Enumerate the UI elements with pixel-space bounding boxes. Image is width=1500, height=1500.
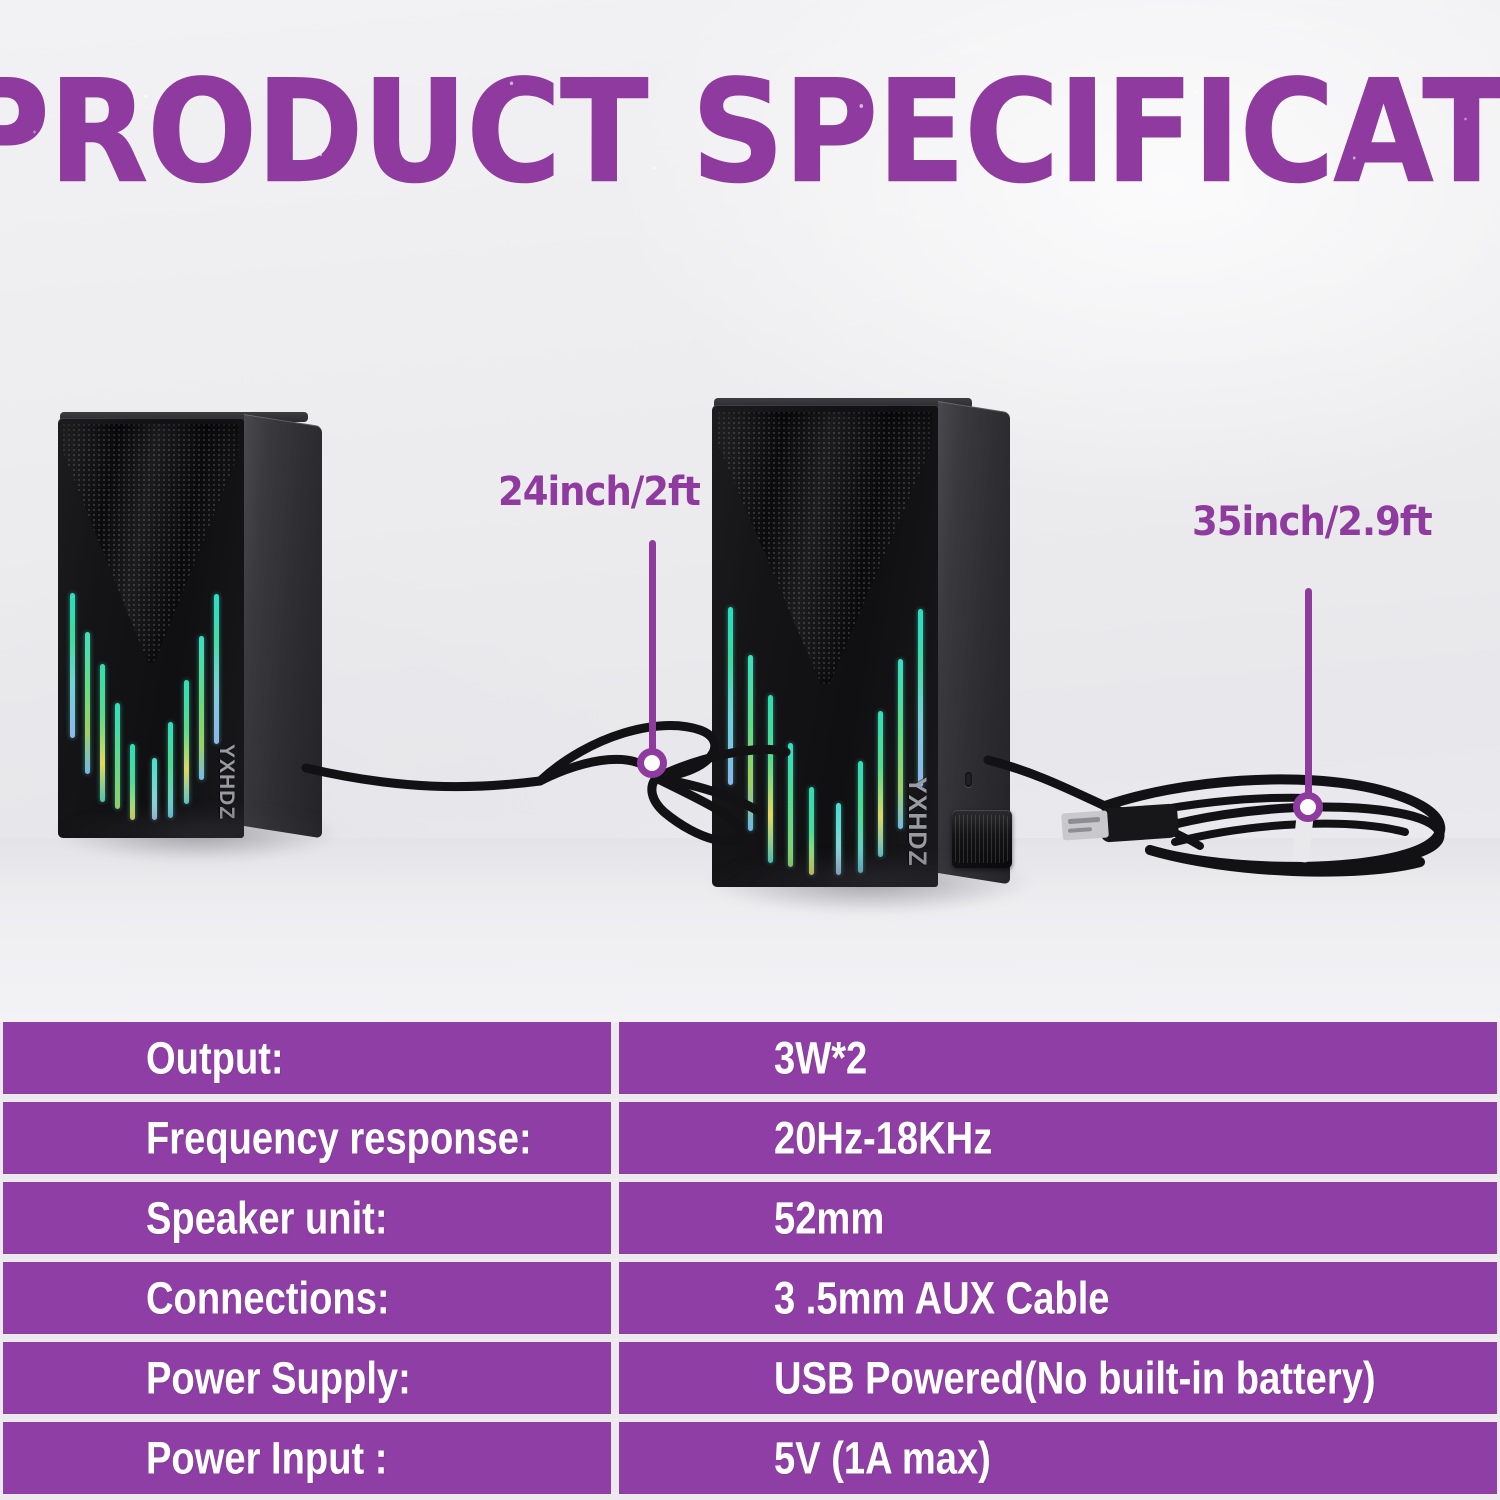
table-row: Power Supply: USB Powered(No built-in ba…: [0, 1342, 1500, 1414]
spec-label: Output:: [146, 1032, 284, 1084]
rgb-light-bar: [214, 594, 219, 744]
rgb-light-bar: [768, 695, 773, 863]
table-row: Output: 3W*2: [0, 1022, 1500, 1094]
spec-value-cell: 3 .5mm AUX Cable: [619, 1262, 1497, 1334]
rgb-light-bar: [115, 703, 120, 809]
aux-port: [965, 772, 972, 787]
callout-aux-cable: 24inch/2ft: [498, 470, 758, 800]
callout-usb-cable: 35inch/2.9ft: [1192, 500, 1492, 850]
rgb-light-bar: [199, 636, 204, 780]
callout-usb-cable-leader: [1305, 588, 1312, 806]
table-row: Frequency response: 20Hz-18KHz: [0, 1102, 1500, 1174]
table-row: Speaker unit: 52mm: [0, 1182, 1500, 1254]
spec-value-cell: 20Hz-18KHz: [619, 1102, 1497, 1174]
spec-value: 3W*2: [774, 1032, 867, 1084]
callout-usb-cable-marker: [1293, 792, 1323, 822]
left-speaker-shadow: [52, 804, 342, 862]
spec-label-cell: Speaker unit:: [3, 1182, 611, 1254]
spec-label: Connections:: [146, 1272, 390, 1324]
spec-label: Power Input :: [146, 1432, 387, 1484]
spec-label: Speaker unit:: [146, 1192, 388, 1244]
spec-value-cell: 5V (1A max): [619, 1422, 1497, 1494]
spec-label-cell: Frequency response:: [3, 1102, 611, 1174]
spec-label-cell: Connections:: [3, 1262, 611, 1334]
page-title: PRODUCT SPECIFICATIONS: [0, 51, 1500, 213]
spec-label-cell: Output:: [3, 1022, 611, 1094]
specifications-table: Output: 3W*2 Frequency response: 20Hz-18…: [0, 1022, 1500, 1500]
spec-value: USB Powered(No built-in battery): [774, 1352, 1376, 1404]
spec-value-cell: 3W*2: [619, 1022, 1497, 1094]
rgb-light-bar: [918, 609, 923, 787]
rgb-light-bar: [184, 680, 189, 804]
rgb-light-bar: [100, 664, 105, 802]
callout-aux-cable-label: 24inch/2ft: [498, 468, 700, 514]
table-row: Power Input : 5V (1A max): [0, 1422, 1500, 1494]
spec-value: 5V (1A max): [774, 1432, 991, 1484]
spec-label-cell: Power Supply:: [3, 1342, 611, 1414]
spec-label: Power Supply:: [146, 1352, 411, 1404]
callout-aux-cable-leader: [649, 540, 656, 762]
spec-value: 52mm: [774, 1192, 884, 1244]
left-speaker-grille: [63, 424, 239, 662]
spec-value-cell: 52mm: [619, 1182, 1497, 1254]
table-row: Connections: 3 .5mm AUX Cable: [0, 1262, 1500, 1334]
spec-value: 3 .5mm AUX Cable: [774, 1272, 1110, 1324]
right-speaker-shadow: [704, 850, 1034, 914]
callout-usb-cable-label: 35inch/2.9ft: [1192, 498, 1432, 544]
spec-label-cell: Power Input :: [3, 1422, 611, 1494]
left-speaker-side-panel: [244, 414, 322, 838]
left-speaker: YXHDZ: [58, 412, 318, 852]
rgb-light-bar: [85, 632, 90, 774]
callout-aux-cable-marker: [637, 748, 667, 778]
left-speaker-front-panel: YXHDZ: [58, 418, 244, 838]
spec-value-cell: USB Powered(No built-in battery): [619, 1342, 1497, 1414]
spec-value: 20Hz-18KHz: [774, 1112, 992, 1164]
rgb-light-bar: [70, 593, 75, 738]
rgb-light-bar: [878, 711, 883, 857]
product-photo-area: PRODUCT SPECIFICATIONS: [0, 0, 1500, 1022]
spec-label: Frequency response:: [146, 1112, 532, 1164]
rgb-light-bar: [788, 743, 793, 867]
